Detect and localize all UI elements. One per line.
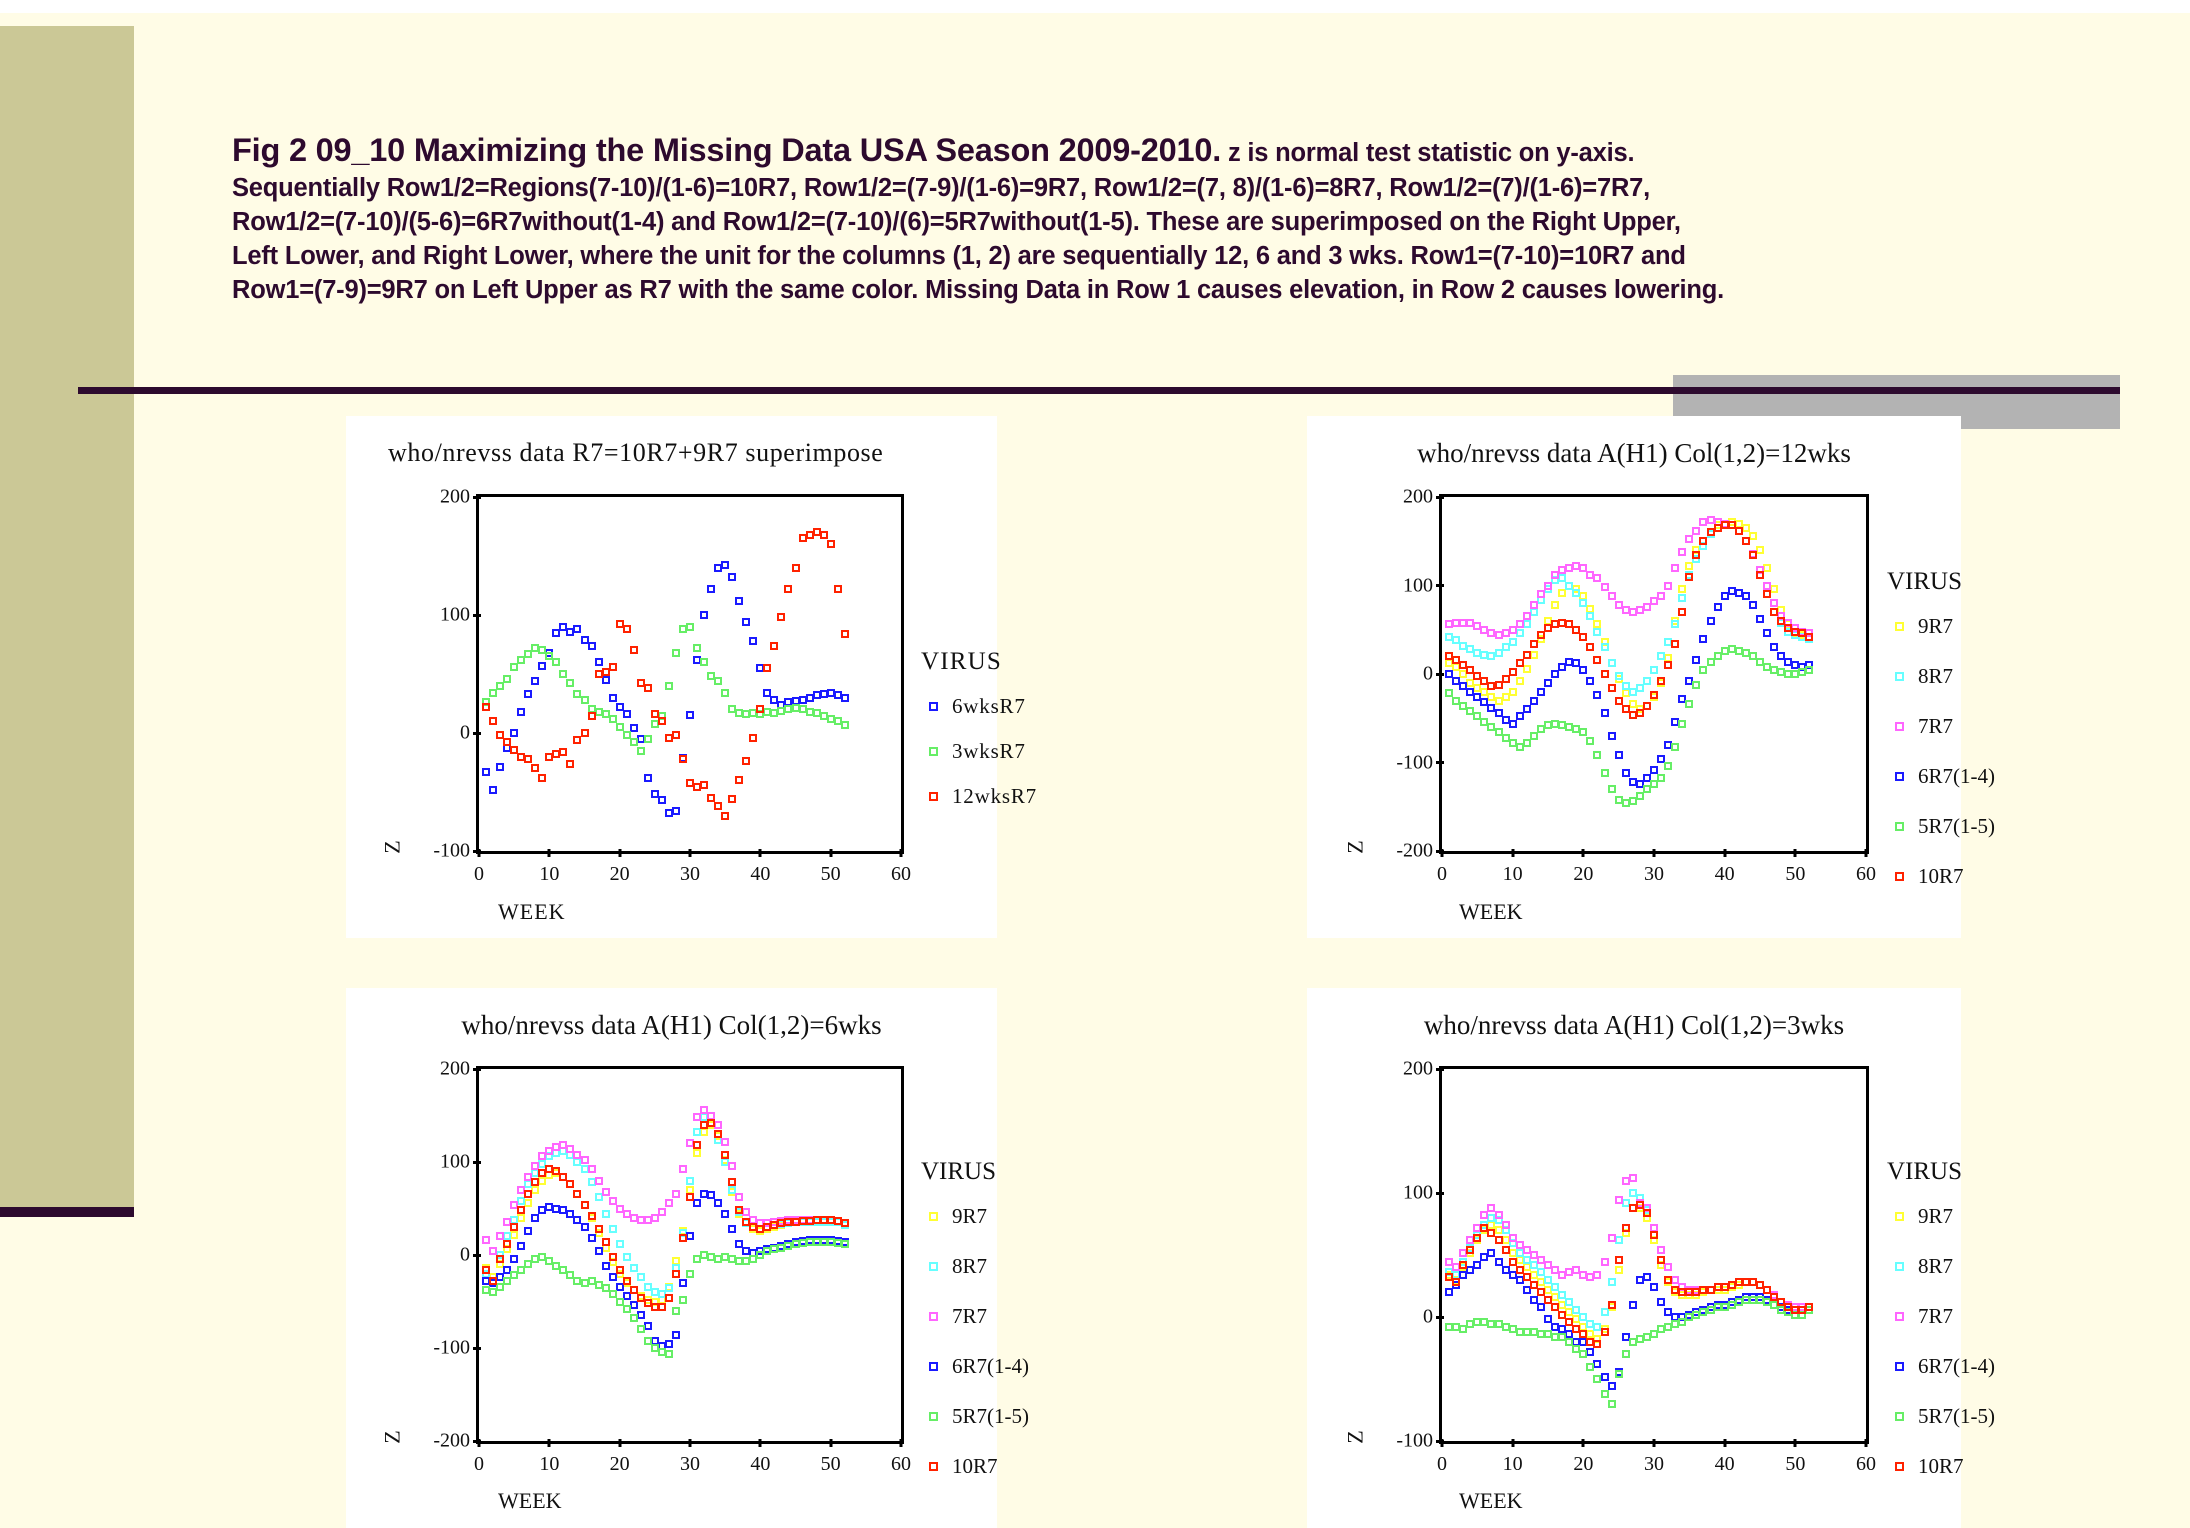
legend-item[interactable]: 9R7 <box>921 1204 1029 1229</box>
heading-line-3: Row1/2=(7-10)/(5-6)=6R7without(1-4) and … <box>232 206 2102 240</box>
legend-item[interactable]: 7R7 <box>1887 714 1995 739</box>
data-point <box>1664 661 1672 669</box>
tick-mark <box>900 1439 903 1447</box>
data-point <box>658 1303 666 1311</box>
data-point <box>581 696 589 704</box>
data-point <box>637 1273 645 1281</box>
tick-mark <box>1436 1192 1444 1195</box>
data-point <box>700 611 708 619</box>
tick-mark <box>1865 849 1868 857</box>
data-point <box>728 1225 736 1233</box>
data-point <box>1650 691 1658 699</box>
data-point <box>1608 1234 1616 1242</box>
data-point <box>1601 1373 1609 1381</box>
data-point <box>510 1231 518 1239</box>
legend-swatch-icon <box>1895 1212 1904 1221</box>
data-point <box>756 705 764 713</box>
data-point <box>1509 688 1517 696</box>
data-point <box>1579 728 1587 736</box>
tick-mark <box>473 614 481 617</box>
data-point <box>1685 573 1693 581</box>
data-point <box>1579 633 1587 641</box>
heading-line-2: Sequentially Row1/2=Regions(7-10)/(1-6)=… <box>232 172 2102 206</box>
tick-mark <box>1653 1439 1656 1447</box>
data-point <box>644 774 652 782</box>
data-point <box>588 712 596 720</box>
data-point <box>1523 620 1531 628</box>
data-point <box>1615 1370 1623 1378</box>
data-point <box>1502 1246 1510 1254</box>
data-point <box>679 1234 687 1242</box>
heading-line-1: Fig 2 09_10 Maximizing the Missing Data … <box>232 129 2102 172</box>
data-point <box>1586 612 1594 620</box>
tick-mark <box>1582 1439 1585 1447</box>
data-point <box>482 1266 490 1274</box>
tick-mark <box>1794 1439 1797 1447</box>
data-point <box>672 649 680 657</box>
x-axis-tick: 0 <box>474 1453 484 1476</box>
data-point <box>1685 700 1693 708</box>
data-point <box>679 1165 687 1173</box>
y-axis-label: Z <box>1343 840 1369 853</box>
legend-swatch-icon <box>1895 722 1904 731</box>
legend-swatch-icon <box>929 1312 938 1321</box>
data-point <box>524 1199 532 1207</box>
data-point <box>517 1197 525 1205</box>
data-point <box>1608 1301 1616 1309</box>
data-point <box>714 677 722 685</box>
legend-label: 10R7 <box>1918 1454 1964 1479</box>
legend-swatch-icon <box>1895 822 1904 831</box>
tick-mark <box>1436 761 1444 764</box>
tick-mark <box>1441 849 1444 857</box>
legend-item[interactable]: 5R7(1-5) <box>1887 1404 1995 1429</box>
data-point <box>679 1279 687 1287</box>
legend-item[interactable]: 7R7 <box>1887 1304 1995 1329</box>
data-point <box>1615 1266 1623 1274</box>
data-point <box>496 682 504 690</box>
y-axis-tick: -200 <box>1396 840 1433 863</box>
data-point <box>665 1350 673 1358</box>
x-axis-tick: 30 <box>1644 1453 1664 1476</box>
legend-label: 6wksR7 <box>952 694 1026 719</box>
data-point <box>1657 652 1665 660</box>
x-axis-tick: 60 <box>1856 863 1876 886</box>
x-axis-label: WEEK <box>1459 1488 1523 1514</box>
data-point <box>1502 675 1510 683</box>
legend-item[interactable]: 8R7 <box>921 1254 1029 1279</box>
data-point <box>1544 679 1552 687</box>
x-axis-tick: 20 <box>1573 1453 1593 1476</box>
data-point <box>686 1270 694 1278</box>
data-point <box>1593 1360 1601 1368</box>
data-point <box>1622 1350 1630 1358</box>
data-point <box>700 1128 708 1136</box>
data-point <box>573 1190 581 1198</box>
tick-mark <box>900 849 903 857</box>
slide-heading: Fig 2 09_10 Maximizing the Missing Data … <box>232 129 2102 308</box>
tick-mark <box>473 1254 481 1257</box>
legend-label: 8R7 <box>1918 1254 1953 1279</box>
legend-item[interactable]: 9R7 <box>1887 614 1995 639</box>
y-axis-tick: 200 <box>1403 486 1433 509</box>
data-point <box>714 1130 722 1138</box>
data-point <box>609 1273 617 1281</box>
x-axis-tick: 30 <box>680 1453 700 1476</box>
data-point <box>482 1236 490 1244</box>
legend-label: 5R7(1-5) <box>952 1404 1029 1429</box>
legend-item[interactable]: 8R7 <box>1887 664 1995 689</box>
data-point <box>742 757 750 765</box>
y-axis-tick: 100 <box>440 1151 470 1174</box>
data-point <box>700 781 708 789</box>
data-point <box>1601 1258 1609 1266</box>
data-point <box>609 1225 617 1233</box>
data-point <box>1601 1328 1609 1336</box>
data-point <box>1608 1278 1616 1286</box>
data-point <box>1615 697 1623 705</box>
legend-title: VIRUS <box>1887 1158 1995 1186</box>
data-point <box>721 812 729 820</box>
tick-mark <box>548 849 551 857</box>
legend-item[interactable]: 6R7(1-4) <box>921 1354 1029 1379</box>
data-point <box>1593 1271 1601 1279</box>
x-axis-tick: 0 <box>1437 863 1447 886</box>
heading-divider-line <box>78 387 1673 394</box>
legend-item[interactable]: 6R7(1-4) <box>1887 1354 1995 1379</box>
chart-panel-bottom-left: who/nrevss data A(H1) Col(1,2)=6wks -200… <box>346 988 997 1528</box>
sidebar-footer-bar <box>0 1207 134 1217</box>
data-point <box>538 662 546 670</box>
sidebar-decoration-band <box>0 26 134 1207</box>
data-point <box>1805 1303 1813 1311</box>
x-axis-tick: 50 <box>821 1453 841 1476</box>
legend-swatch-icon <box>929 1412 938 1421</box>
data-point <box>1579 666 1587 674</box>
data-point <box>749 637 757 645</box>
data-point <box>686 623 694 631</box>
data-point <box>630 724 638 732</box>
x-axis-tick: 20 <box>610 863 630 886</box>
data-point <box>510 1223 518 1231</box>
data-point <box>1671 564 1679 572</box>
data-point <box>686 711 694 719</box>
tick-mark <box>618 1439 621 1447</box>
legend-label: 9R7 <box>952 1204 987 1229</box>
tick-mark <box>618 849 621 857</box>
legend-title: VIRUS <box>921 1158 1029 1186</box>
tick-mark <box>1653 849 1656 857</box>
data-point <box>672 1190 680 1198</box>
data-point <box>1586 643 1594 651</box>
legend-swatch-icon <box>1895 772 1904 781</box>
data-point <box>1749 532 1757 540</box>
data-point <box>566 760 574 768</box>
legend-label: 3wksR7 <box>952 739 1026 764</box>
y-axis-tick: -200 <box>433 1430 470 1453</box>
data-point <box>658 1208 666 1216</box>
data-point <box>1593 656 1601 664</box>
data-point <box>834 585 842 593</box>
y-axis-tick: 0 <box>1423 663 1433 686</box>
legend-item[interactable]: 7R7 <box>921 1304 1029 1329</box>
data-point <box>1692 681 1700 689</box>
data-point <box>503 1240 511 1248</box>
data-point <box>1608 732 1616 740</box>
legend-swatch-icon <box>1895 622 1904 631</box>
data-point <box>517 708 525 716</box>
y-axis-label: Z <box>380 1430 406 1443</box>
legend-swatch-icon <box>929 1362 938 1371</box>
data-point <box>1593 751 1601 759</box>
data-point <box>1615 751 1623 759</box>
data-point <box>1678 594 1686 602</box>
data-point <box>1523 651 1531 659</box>
x-axis-label: WEEK <box>1459 899 1523 925</box>
data-point <box>714 1121 722 1129</box>
data-point <box>693 1149 701 1157</box>
legend-item[interactable]: 6wksR7 <box>921 694 1037 719</box>
data-point <box>1749 601 1757 609</box>
legend-swatch-icon <box>929 1262 938 1271</box>
data-point <box>1530 608 1538 616</box>
legend-item[interactable]: 6R7(1-4) <box>1887 764 1995 789</box>
data-point <box>1770 608 1778 616</box>
data-point <box>1537 688 1545 696</box>
data-point <box>531 764 539 772</box>
legend-swatch-icon <box>1895 672 1904 681</box>
x-axis-tick: 50 <box>1785 1453 1805 1476</box>
data-point <box>595 658 603 666</box>
data-point <box>700 658 708 666</box>
data-point <box>672 1331 680 1339</box>
heading-line-4: Left Lower, and Right Lower, where the u… <box>232 240 2102 274</box>
data-point <box>1586 677 1594 685</box>
data-point <box>623 710 631 718</box>
data-point <box>1636 684 1644 692</box>
data-point <box>728 795 736 803</box>
legend-item[interactable]: 3wksR7 <box>921 739 1037 764</box>
data-point <box>588 642 596 650</box>
data-point <box>686 1193 694 1201</box>
legend-label: 12wksR7 <box>952 784 1037 809</box>
data-point <box>742 618 750 626</box>
data-point <box>1615 672 1623 680</box>
data-point <box>721 1210 729 1218</box>
y-axis-tick: -100 <box>1396 751 1433 774</box>
data-point <box>693 1199 701 1207</box>
data-point <box>1516 620 1524 628</box>
data-point <box>1657 1246 1665 1254</box>
data-point <box>841 1240 849 1248</box>
tick-mark <box>473 1161 481 1164</box>
y-axis-tick: -100 <box>1396 1430 1433 1453</box>
tick-mark <box>829 1439 832 1447</box>
data-point <box>1678 585 1686 593</box>
data-point <box>784 585 792 593</box>
y-axis-label: Z <box>380 840 406 853</box>
data-point <box>531 677 539 685</box>
data-point <box>1487 1249 1495 1257</box>
tick-mark <box>689 1439 692 1447</box>
x-axis-label: WEEK <box>498 899 566 925</box>
legend-item[interactable]: 9R7 <box>1887 1204 1995 1229</box>
data-point <box>602 1262 610 1270</box>
data-point <box>749 734 757 742</box>
legend-label: 6R7(1-4) <box>1918 1354 1995 1379</box>
data-point <box>616 723 624 731</box>
data-point <box>1466 1246 1474 1254</box>
data-point <box>1502 1221 1510 1229</box>
data-point <box>1608 1400 1616 1408</box>
data-point <box>510 729 518 737</box>
data-point <box>623 625 631 633</box>
data-point <box>658 796 666 804</box>
data-point <box>721 561 729 569</box>
chart-legend: VIRUS 9R78R77R76R7(1-4)5R7(1-5)10R7 <box>1887 568 1995 914</box>
data-point <box>1657 774 1665 782</box>
data-point <box>1601 670 1609 678</box>
data-point <box>1763 564 1771 572</box>
x-axis-tick: 40 <box>750 863 770 886</box>
tick-mark <box>1511 849 1514 857</box>
data-point <box>1805 666 1813 674</box>
x-axis-tick: 30 <box>680 863 700 886</box>
data-point <box>1636 709 1644 717</box>
data-point <box>714 1199 722 1207</box>
data-point <box>1608 1382 1616 1390</box>
x-axis-tick: 10 <box>1503 1453 1523 1476</box>
data-point <box>637 747 645 755</box>
tick-mark <box>1582 849 1585 857</box>
tick-mark <box>1436 584 1444 587</box>
y-axis-tick: -100 <box>433 1337 470 1360</box>
chart-legend: VIRUS 9R78R77R76R7(1-4)5R7(1-5)10R7 <box>1887 1158 1995 1504</box>
data-point <box>496 1255 504 1263</box>
data-point <box>1615 1256 1623 1264</box>
data-point <box>827 540 835 548</box>
data-point <box>1805 633 1813 641</box>
data-point <box>1770 643 1778 651</box>
data-point <box>517 1214 525 1222</box>
data-point <box>602 1210 610 1218</box>
x-axis-tick: 60 <box>1856 1453 1876 1476</box>
x-axis-tick: 40 <box>1715 863 1735 886</box>
data-point <box>1763 582 1771 590</box>
data-point <box>728 573 736 581</box>
data-point <box>1601 1308 1609 1316</box>
data-point <box>693 1141 701 1149</box>
tick-mark <box>1723 1439 1726 1447</box>
data-point <box>1509 668 1517 676</box>
data-point <box>1756 615 1764 623</box>
legend-item[interactable]: 5R7(1-5) <box>921 1404 1029 1429</box>
tick-mark <box>1441 1439 1444 1447</box>
chart-title: who/nrevss data A(H1) Col(1,2)=6wks <box>346 1010 997 1041</box>
legend-label: 6R7(1-4) <box>1918 764 1995 789</box>
x-axis-tick: 20 <box>1573 863 1593 886</box>
data-point <box>1650 766 1658 774</box>
data-point <box>1579 599 1587 607</box>
data-point <box>763 664 771 672</box>
data-point <box>623 1277 631 1285</box>
legend-swatch-icon <box>1895 1362 1904 1371</box>
data-point <box>1657 1256 1665 1264</box>
legend-item[interactable]: 12wksR7 <box>921 784 1037 809</box>
tick-mark <box>759 1439 762 1447</box>
data-point <box>1495 1236 1503 1244</box>
x-axis-tick: 50 <box>821 863 841 886</box>
legend-item[interactable]: 10R7 <box>921 1454 1029 1479</box>
data-point <box>623 1253 631 1261</box>
data-point <box>1480 1211 1488 1219</box>
data-point <box>1671 743 1679 751</box>
data-point <box>658 717 666 725</box>
legend-item[interactable]: 10R7 <box>1887 864 1995 889</box>
legend-item[interactable]: 10R7 <box>1887 1454 1995 1479</box>
legend-item[interactable]: 8R7 <box>1887 1254 1995 1279</box>
data-point <box>1523 739 1531 747</box>
chart-panel-top-left: who/nrevss data R7=10R7+9R7 superimpose … <box>346 416 997 938</box>
data-point <box>1770 585 1778 593</box>
data-point <box>1664 1276 1672 1284</box>
data-point <box>1445 1288 1453 1296</box>
data-point <box>1459 1261 1467 1269</box>
legend-label: 9R7 <box>1918 1204 1953 1229</box>
x-axis-label: WEEK <box>498 1488 562 1514</box>
data-point <box>1601 769 1609 777</box>
data-point <box>510 1255 518 1263</box>
data-point <box>792 564 800 572</box>
data-point <box>1586 1348 1594 1356</box>
legend-title: VIRUS <box>1887 568 1995 596</box>
legend-label: 7R7 <box>1918 1304 1953 1329</box>
data-point <box>637 1311 645 1319</box>
data-point <box>1756 571 1764 579</box>
data-point <box>531 1214 539 1222</box>
legend-label: 5R7(1-5) <box>1918 814 1995 839</box>
chart-panel-bottom-right: who/nrevss data A(H1) Col(1,2)=3wks -100… <box>1307 988 1961 1528</box>
data-point <box>1608 592 1616 600</box>
data-point <box>672 1307 680 1315</box>
legend-label: 7R7 <box>952 1304 987 1329</box>
legend-swatch-icon <box>1895 1262 1904 1271</box>
legend-label: 8R7 <box>952 1254 987 1279</box>
data-point <box>1664 1263 1672 1271</box>
tick-mark <box>478 849 481 857</box>
data-point <box>573 736 581 744</box>
data-point <box>1530 732 1538 740</box>
legend-item[interactable]: 5R7(1-5) <box>1887 814 1995 839</box>
data-point <box>602 1188 610 1196</box>
data-point <box>595 1247 603 1255</box>
x-axis-tick: 30 <box>1644 863 1664 886</box>
tick-mark <box>759 849 762 857</box>
data-point <box>735 1206 743 1214</box>
data-point <box>1699 635 1707 643</box>
data-point <box>1530 651 1538 659</box>
data-point <box>496 763 504 771</box>
chart-panel-top-right: who/nrevss data A(H1) Col(1,2)=12wks -20… <box>1307 416 1961 938</box>
data-point <box>1523 665 1531 673</box>
legend-label: 10R7 <box>952 1454 998 1479</box>
data-point <box>820 531 828 539</box>
data-point <box>665 682 673 690</box>
data-point <box>588 1212 596 1220</box>
legend-label: 10R7 <box>1918 864 1964 889</box>
data-point <box>559 748 567 756</box>
data-point <box>566 1180 574 1188</box>
